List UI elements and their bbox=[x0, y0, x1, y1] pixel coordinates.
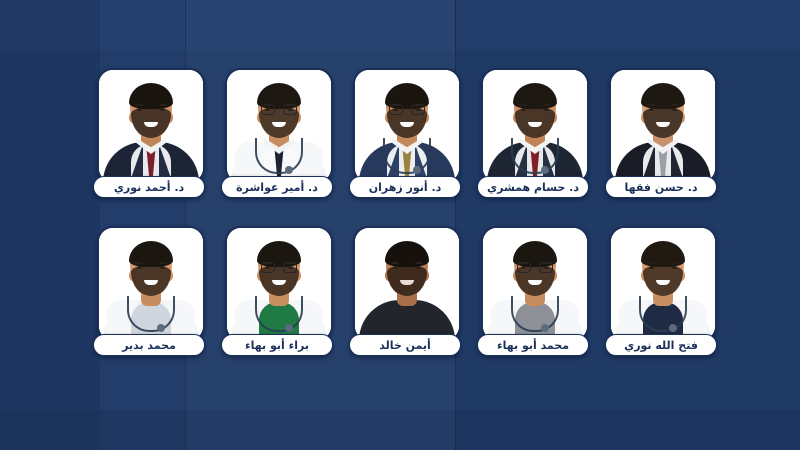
stethoscope-bell-icon bbox=[541, 166, 549, 174]
team-member-card[interactable]: محمد أبو بهاء bbox=[479, 226, 587, 356]
member-name-pill: محمد أبو بهاء bbox=[477, 334, 589, 356]
eyeglasses-icon bbox=[517, 262, 553, 274]
member-photo-card bbox=[225, 226, 333, 342]
stethoscope-bell-icon bbox=[157, 324, 165, 332]
member-photo-card bbox=[353, 226, 461, 342]
member-portrait bbox=[99, 70, 203, 182]
member-photo-card bbox=[97, 68, 205, 184]
team-member-card[interactable]: د. أنور زهران bbox=[351, 68, 459, 198]
team-member-card[interactable]: د. أحمد نوري bbox=[95, 68, 203, 198]
stethoscope-bell-icon bbox=[413, 166, 421, 174]
member-name-pill: د. أنور زهران bbox=[349, 176, 461, 198]
member-photo-card bbox=[609, 226, 717, 342]
member-name: محمد بدير bbox=[122, 340, 176, 351]
member-photo-card bbox=[481, 68, 589, 184]
team-member-card[interactable]: محمد بدير bbox=[95, 226, 203, 356]
member-name-pill: د. حسن فقها bbox=[605, 176, 717, 198]
member-portrait bbox=[483, 70, 587, 182]
member-name-pill: براء أبو بهاء bbox=[221, 334, 333, 356]
team-poster: د. حسن فقها bbox=[0, 0, 800, 450]
member-name-pill: محمد بدير bbox=[93, 334, 205, 356]
member-portrait bbox=[611, 228, 715, 340]
team-member-card[interactable]: د. أمير عواشرة bbox=[223, 68, 331, 198]
eyeglasses-icon bbox=[389, 104, 425, 116]
member-portrait bbox=[355, 228, 459, 340]
member-photo-card bbox=[481, 226, 589, 342]
eyeglasses-icon bbox=[261, 104, 297, 116]
member-portrait bbox=[611, 70, 715, 182]
member-name: د. أحمد نوري bbox=[114, 182, 184, 193]
member-name: د. أنور زهران bbox=[369, 182, 442, 193]
team-row-2: فتح الله نوري bbox=[95, 226, 715, 356]
member-portrait bbox=[99, 228, 203, 340]
member-name: براء أبو بهاء bbox=[245, 340, 309, 351]
stethoscope-bell-icon bbox=[669, 324, 677, 332]
member-photo-card bbox=[609, 68, 717, 184]
member-name: د. أمير عواشرة bbox=[236, 182, 318, 193]
member-name-pill: د. أحمد نوري bbox=[93, 176, 205, 198]
member-name-pill: أيمن خالد bbox=[349, 334, 461, 356]
stethoscope-bell-icon bbox=[285, 166, 293, 174]
member-photo-card bbox=[353, 68, 461, 184]
team-row-1: د. حسن فقها bbox=[95, 68, 715, 198]
member-name-pill: فتح الله نوري bbox=[605, 334, 717, 356]
member-name: أيمن خالد bbox=[379, 340, 431, 351]
team-member-card[interactable]: براء أبو بهاء bbox=[223, 226, 331, 356]
member-portrait bbox=[483, 228, 587, 340]
background-band-bottom bbox=[0, 410, 800, 450]
background-band-top bbox=[0, 0, 800, 50]
member-name: محمد أبو بهاء bbox=[497, 340, 569, 351]
member-portrait bbox=[227, 228, 331, 340]
team-member-card[interactable]: أيمن خالد bbox=[351, 226, 459, 356]
member-name-pill: د. أمير عواشرة bbox=[221, 176, 333, 198]
stethoscope-bell-icon bbox=[285, 324, 293, 332]
team-grid: د. حسن فقها bbox=[95, 68, 715, 368]
eyeglasses-icon bbox=[261, 262, 297, 274]
member-portrait bbox=[355, 70, 459, 182]
member-photo-card bbox=[97, 226, 205, 342]
background-panel-left bbox=[0, 0, 100, 450]
member-name: د. حسام همشري bbox=[487, 182, 579, 193]
team-member-card[interactable]: د. حسن فقها bbox=[607, 68, 715, 198]
member-photo-card bbox=[225, 68, 333, 184]
member-name-pill: د. حسام همشري bbox=[477, 176, 589, 198]
member-name: فتح الله نوري bbox=[624, 340, 698, 351]
team-member-card[interactable]: فتح الله نوري bbox=[607, 226, 715, 356]
team-member-card[interactable]: د. حسام همشري bbox=[479, 68, 587, 198]
member-name: د. حسن فقها bbox=[625, 182, 698, 193]
member-portrait bbox=[227, 70, 331, 182]
stethoscope-bell-icon bbox=[541, 324, 549, 332]
